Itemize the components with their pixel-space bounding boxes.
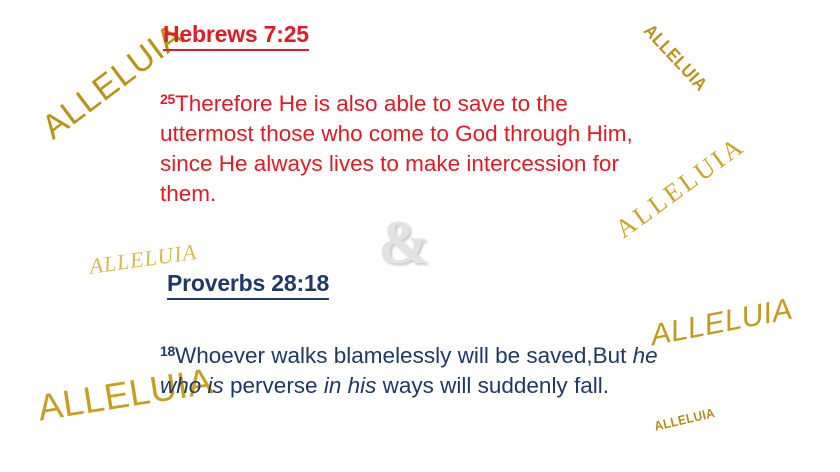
verse-run: But	[593, 343, 633, 368]
slide-canvas: ALLELUIA ALLELUIA ALLELUIA ALLELUIA ALLE…	[0, 0, 840, 472]
alleluia-watermark-small-right: ALLELUIA	[653, 406, 716, 433]
alleluia-watermark-top-right: ALLELUIA	[640, 22, 710, 95]
verse-run: perverse	[224, 373, 324, 398]
proverbs-verse-body: Whoever walks blamelessly will be saved,…	[160, 343, 658, 398]
hebrews-verse-body: Therefore He is also able to save to the…	[160, 91, 633, 206]
hebrews-verse-number: 25	[160, 91, 175, 107]
verse-run: ways will suddenly fall.	[376, 373, 609, 398]
proverbs-verse-text: 18Whoever walks blamelessly will be save…	[160, 336, 660, 401]
hebrews-heading: Hebrews 7:25	[163, 21, 309, 51]
verse-emphasis: in his	[324, 373, 377, 398]
proverbs-heading-label: Proverbs 28:18	[167, 270, 329, 300]
proverbs-verse-number: 18	[160, 343, 175, 359]
hebrews-verse-text: 25Therefore He is also able to save to t…	[160, 84, 650, 209]
hebrews-heading-label: Hebrews 7:25	[163, 21, 309, 51]
ampersand-decoration: &	[378, 212, 430, 274]
proverbs-heading: Proverbs 28:18	[167, 270, 329, 300]
alleluia-watermark-lower-right: ALLELUIA	[648, 295, 795, 352]
verse-run: Whoever walks blamelessly will be saved,	[175, 343, 593, 368]
